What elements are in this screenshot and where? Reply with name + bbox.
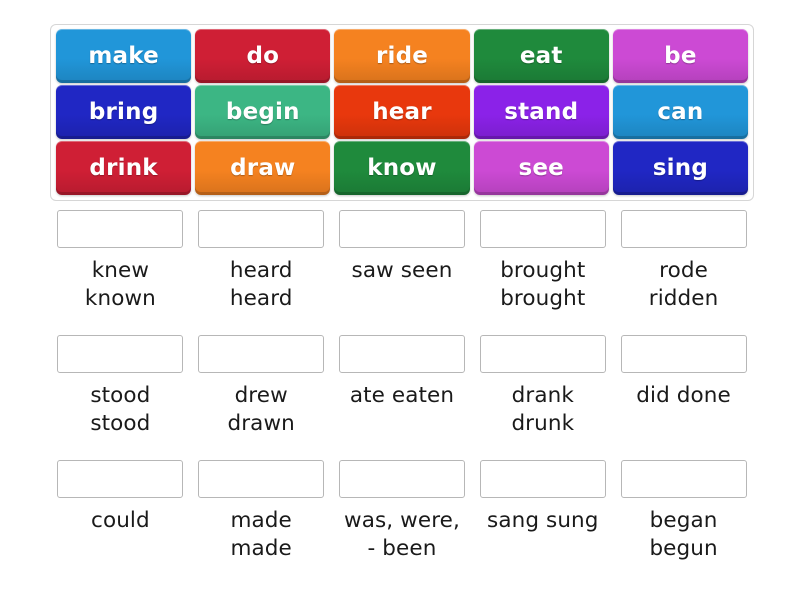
- tile-label: eat: [520, 43, 563, 69]
- answer-cell: heard heard: [197, 210, 326, 335]
- tile-row: make do ride eat be: [54, 29, 750, 83]
- answer-prompt: was, were, - been: [344, 507, 460, 563]
- tile-row: bring begin hear stand can: [54, 85, 750, 139]
- word-tile-see[interactable]: see: [474, 141, 609, 195]
- drop-target[interactable]: [57, 210, 183, 248]
- answer-prompt: made made: [230, 507, 291, 563]
- answer-prompt: knew known: [85, 257, 156, 313]
- tile-label: can: [657, 99, 703, 125]
- tile-label: ride: [376, 43, 428, 69]
- answer-cell: was, were, - been: [338, 460, 467, 585]
- drop-target[interactable]: [480, 460, 606, 498]
- tile-label: see: [518, 155, 564, 181]
- answer-cell: knew known: [56, 210, 185, 335]
- answer-prompt: rode ridden: [649, 257, 719, 313]
- word-tile-drink[interactable]: drink: [56, 141, 191, 195]
- answer-row: stood stood drew drawn ate eaten drank d…: [50, 335, 754, 460]
- answer-row: could made made was, were, - been sang s…: [50, 460, 754, 585]
- drop-target[interactable]: [198, 210, 324, 248]
- word-tile-hear[interactable]: hear: [334, 85, 469, 139]
- drop-target[interactable]: [198, 460, 324, 498]
- tile-row: drink draw know see sing: [54, 141, 750, 195]
- answer-prompt: sang sung: [487, 507, 599, 535]
- answer-cell: did done: [619, 335, 748, 460]
- drop-target[interactable]: [198, 335, 324, 373]
- word-tile-begin[interactable]: begin: [195, 85, 330, 139]
- answer-cell: began begun: [619, 460, 748, 585]
- answer-cell: drew drawn: [197, 335, 326, 460]
- answer-prompt: heard heard: [230, 257, 293, 313]
- word-tile-do[interactable]: do: [195, 29, 330, 83]
- word-tile-draw[interactable]: draw: [195, 141, 330, 195]
- word-tile-be[interactable]: be: [613, 29, 748, 83]
- tile-label: know: [367, 155, 437, 181]
- tile-label: bring: [89, 99, 159, 125]
- answer-prompt: ate eaten: [350, 382, 454, 410]
- tile-label: hear: [372, 99, 432, 125]
- answer-cell: drank drunk: [478, 335, 607, 460]
- answer-prompt: did done: [636, 382, 731, 410]
- answer-prompt: drank drunk: [511, 382, 574, 438]
- word-tile-bank: make do ride eat be bring begin hear sta…: [50, 24, 754, 201]
- drop-target[interactable]: [339, 335, 465, 373]
- tile-label: sing: [653, 155, 708, 181]
- word-tile-eat[interactable]: eat: [474, 29, 609, 83]
- answer-cell: ate eaten: [338, 335, 467, 460]
- word-tile-bring[interactable]: bring: [56, 85, 191, 139]
- tile-label: do: [246, 43, 279, 69]
- drop-target[interactable]: [339, 460, 465, 498]
- drop-target[interactable]: [57, 460, 183, 498]
- answer-cell: rode ridden: [619, 210, 748, 335]
- answer-prompt: stood stood: [90, 382, 150, 438]
- tile-label: stand: [504, 99, 578, 125]
- answer-prompt: drew drawn: [228, 382, 295, 438]
- word-tile-make[interactable]: make: [56, 29, 191, 83]
- drop-target[interactable]: [339, 210, 465, 248]
- word-tile-stand[interactable]: stand: [474, 85, 609, 139]
- tile-label: make: [88, 43, 159, 69]
- word-tile-can[interactable]: can: [613, 85, 748, 139]
- word-tile-ride[interactable]: ride: [334, 29, 469, 83]
- word-tile-sing[interactable]: sing: [613, 141, 748, 195]
- tile-label: begin: [226, 99, 300, 125]
- answer-row: knew known heard heard saw seen brought …: [50, 210, 754, 335]
- tile-label: drink: [89, 155, 157, 181]
- drop-target[interactable]: [621, 210, 747, 248]
- answer-cell: made made: [197, 460, 326, 585]
- answer-cell: stood stood: [56, 335, 185, 460]
- word-tile-know[interactable]: know: [334, 141, 469, 195]
- answer-prompt: could: [91, 507, 150, 535]
- answer-prompt: began begun: [649, 507, 717, 563]
- answer-cell: brought brought: [478, 210, 607, 335]
- drop-target[interactable]: [621, 460, 747, 498]
- tile-label: draw: [230, 155, 295, 181]
- drop-target[interactable]: [480, 210, 606, 248]
- answer-cell: sang sung: [478, 460, 607, 585]
- tile-label: be: [664, 43, 696, 69]
- match-up-activity: make do ride eat be bring begin hear sta…: [0, 0, 800, 600]
- answer-grid: knew known heard heard saw seen brought …: [50, 210, 754, 585]
- drop-target[interactable]: [621, 335, 747, 373]
- answer-prompt: saw seen: [352, 257, 453, 285]
- answer-cell: could: [56, 460, 185, 585]
- drop-target[interactable]: [480, 335, 606, 373]
- drop-target[interactable]: [57, 335, 183, 373]
- answer-prompt: brought brought: [500, 257, 585, 313]
- answer-cell: saw seen: [338, 210, 467, 335]
